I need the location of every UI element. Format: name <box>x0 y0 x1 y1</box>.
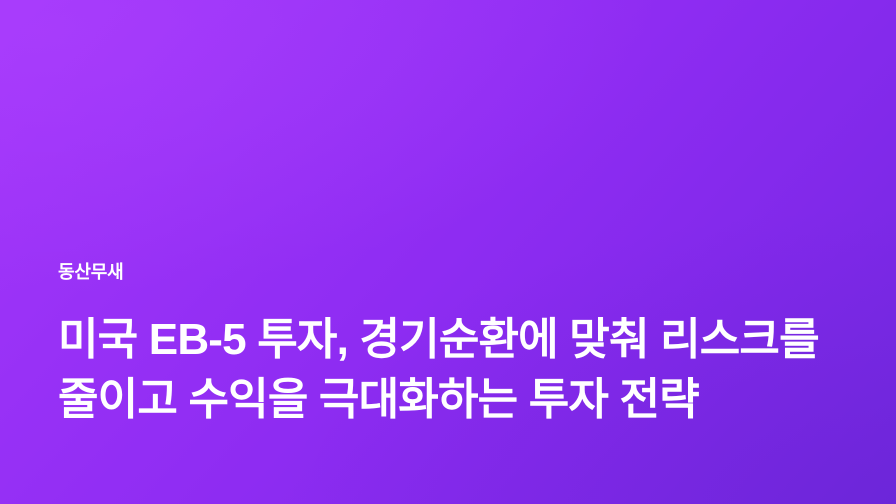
article-title: 미국 EB-5 투자, 경기순환에 맞춰 리스크를 줄이고 수익을 극대화하는 … <box>58 310 840 430</box>
article-hero-card: 동산무새 미국 EB-5 투자, 경기순환에 맞춰 리스크를 줄이고 수익을 극… <box>0 0 896 504</box>
blog-name-label: 동산무새 <box>58 262 840 283</box>
hero-text-block: 동산무새 미국 EB-5 투자, 경기순환에 맞춰 리스크를 줄이고 수익을 극… <box>58 262 840 430</box>
